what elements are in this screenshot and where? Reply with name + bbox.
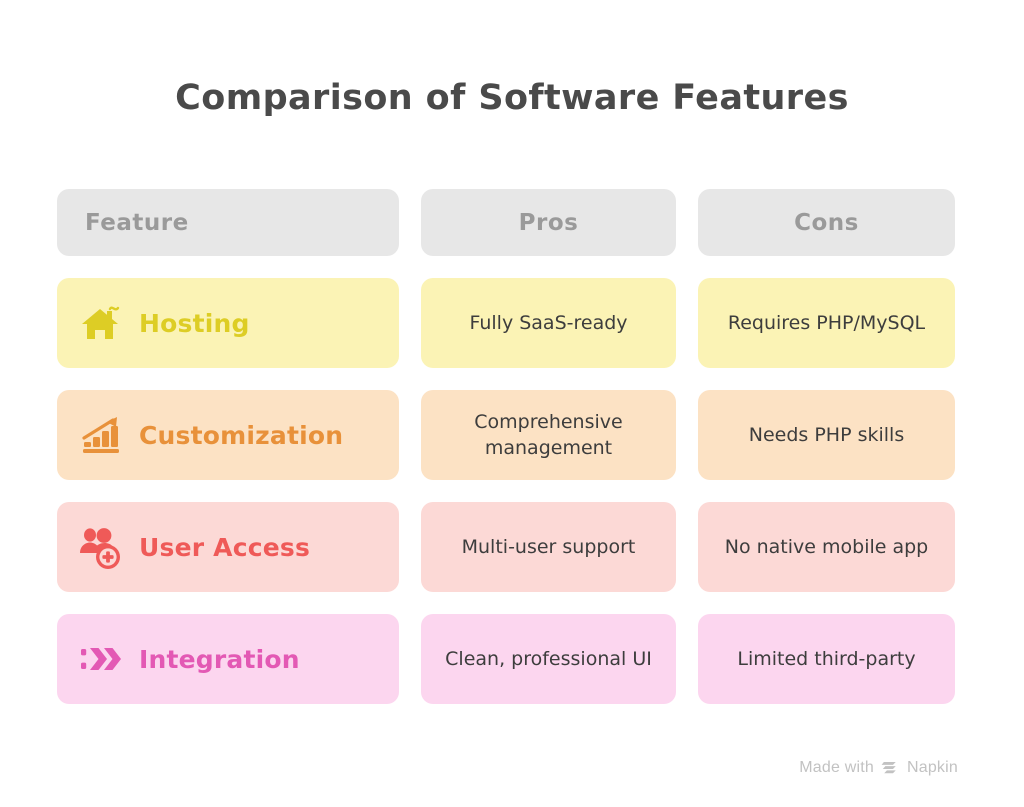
pros-cell: Fully SaaS-ready xyxy=(421,278,676,368)
feature-label: Hosting xyxy=(139,309,250,338)
house-icon xyxy=(77,299,125,347)
users-add-icon xyxy=(77,523,125,571)
napkin-watermark: Made with Napkin xyxy=(799,758,958,777)
feature-label: Customization xyxy=(139,421,343,450)
feature-cell: Customization xyxy=(57,390,399,480)
table-row: Hosting Fully SaaS-ready Requires PHP/My… xyxy=(57,278,955,368)
header-label-feature: Feature xyxy=(85,210,189,236)
pros-cell: Clean, professional UI xyxy=(421,614,676,704)
cons-cell: Needs PHP skills xyxy=(698,390,955,480)
cons-cell: Requires PHP/MySQL xyxy=(698,278,955,368)
bar-chart-arrow-icon xyxy=(77,411,125,459)
double-chevron-icon xyxy=(77,635,125,683)
page-title: Comparison of Software Features xyxy=(0,78,1024,118)
pros-cell: Multi-user support xyxy=(421,502,676,592)
made-with-label: Made with xyxy=(799,759,874,777)
feature-cell: Hosting xyxy=(57,278,399,368)
header-cell-pros: Pros xyxy=(421,189,676,256)
napkin-logo-icon xyxy=(881,758,900,777)
pros-text: Multi-user support xyxy=(462,534,636,560)
feature-label: Integration xyxy=(139,645,300,674)
comparison-table: Feature Pros Cons Hosting xyxy=(57,189,955,726)
cons-text: Requires PHP/MySQL xyxy=(728,310,925,336)
table-header-row: Feature Pros Cons xyxy=(57,189,955,256)
table-row: Customization Comprehensive management N… xyxy=(57,390,955,480)
pros-text: Fully SaaS-ready xyxy=(469,310,627,336)
infographic-table-page: Comparison of Software Features Feature … xyxy=(0,0,1024,807)
brand-label: Napkin xyxy=(907,759,958,777)
header-cell-cons: Cons xyxy=(698,189,955,256)
pros-text: Clean, professional UI xyxy=(445,646,652,672)
table-row: User Access Multi-user support No native… xyxy=(57,502,955,592)
table-row: Integration Clean, professional UI Limit… xyxy=(57,614,955,704)
feature-cell: Integration xyxy=(57,614,399,704)
pros-text: Comprehensive management xyxy=(435,409,662,461)
cons-cell: No native mobile app xyxy=(698,502,955,592)
header-label-pros: Pros xyxy=(519,210,579,236)
feature-cell: User Access xyxy=(57,502,399,592)
cons-text: Limited third-party xyxy=(737,646,915,672)
cons-text: Needs PHP skills xyxy=(749,422,904,448)
header-label-cons: Cons xyxy=(794,210,859,236)
feature-label: User Access xyxy=(139,533,310,562)
cons-text: No native mobile app xyxy=(725,534,929,560)
pros-cell: Comprehensive management xyxy=(421,390,676,480)
cons-cell: Limited third-party xyxy=(698,614,955,704)
header-cell-feature: Feature xyxy=(57,189,399,256)
